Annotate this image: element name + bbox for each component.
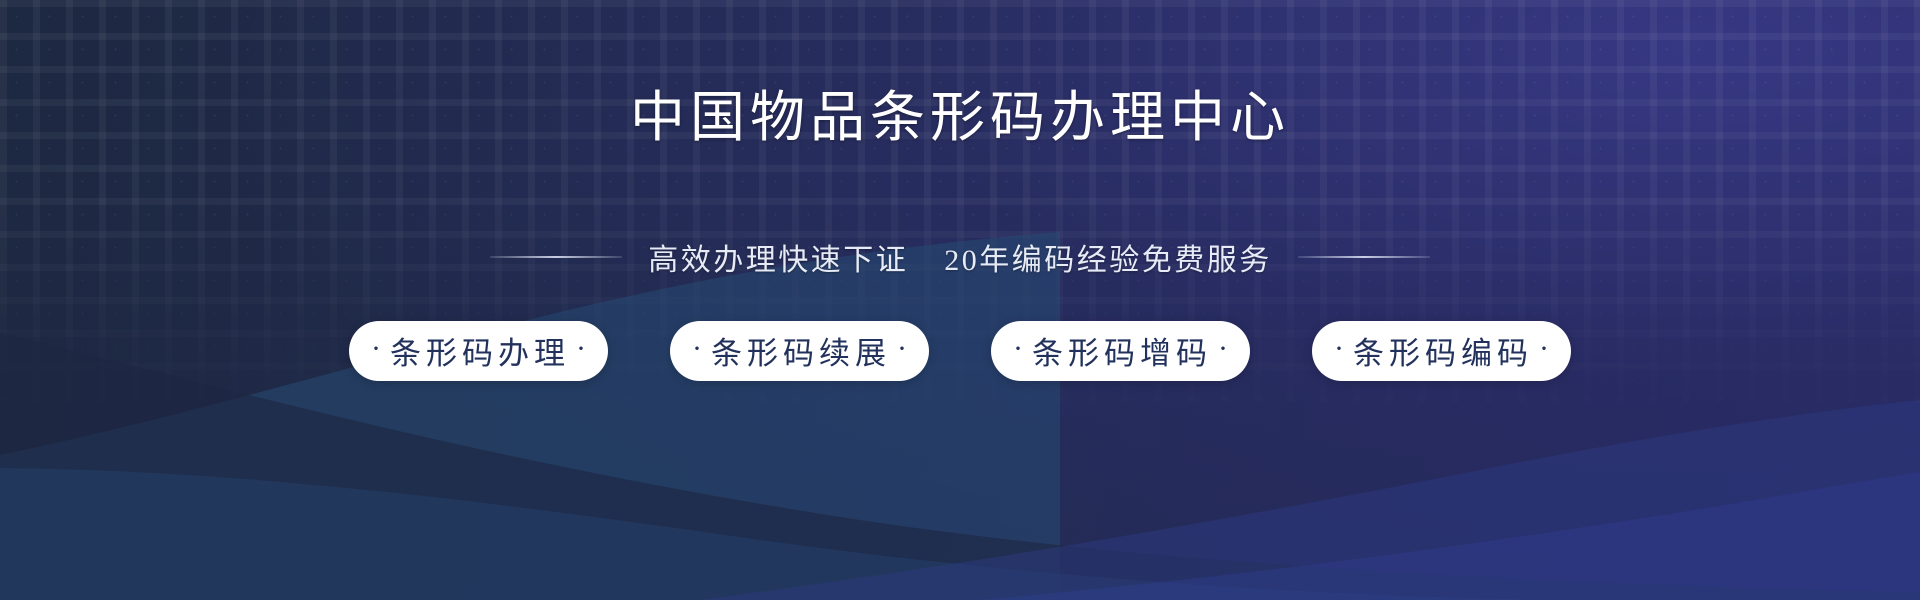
promo-banner: 中国物品条形码办理中心 高效办理快速下证 20年编码经验免费服务 · 条形码办理…	[0, 0, 1920, 600]
page-title: 中国物品条形码办理中心	[630, 88, 1290, 149]
pill-button-barcode-renew[interactable]: · 条形码续展 ·	[670, 321, 929, 381]
bullet-dot-icon: ·	[1218, 334, 1228, 364]
subtitle-left-segment: 高效办理快速下证	[648, 244, 908, 277]
pill-button-barcode-encode[interactable]: · 条形码编码 ·	[1312, 321, 1571, 381]
pill-button-barcode-apply[interactable]: · 条形码办理 ·	[349, 321, 608, 381]
pill-label: 条形码办理	[387, 328, 570, 373]
bullet-dot-icon: ·	[576, 334, 586, 364]
banner-content: 中国物品条形码办理中心 高效办理快速下证 20年编码经验免费服务 · 条形码办理…	[0, 0, 1920, 600]
subtitle-right-segment: 20年编码经验免费服务	[944, 244, 1272, 277]
service-pill-row: · 条形码办理 · · 条形码续展 · · 条形码增码 · · 条形码编码 ·	[349, 321, 1571, 381]
subtitle-row: 高效办理快速下证 20年编码经验免费服务	[490, 235, 1430, 279]
subtitle-text: 高效办理快速下证 20年编码经验免费服务	[648, 235, 1272, 279]
bullet-dot-icon: ·	[1334, 334, 1344, 364]
bullet-dot-icon: ·	[692, 334, 702, 364]
bullet-dot-icon: ·	[371, 334, 381, 364]
pill-label: 条形码续展	[708, 328, 891, 373]
bullet-dot-icon: ·	[897, 334, 907, 364]
right-rule-icon	[1298, 256, 1430, 258]
left-rule-icon	[490, 256, 622, 258]
pill-label: 条形码增码	[1029, 328, 1212, 373]
bullet-dot-icon: ·	[1539, 334, 1549, 364]
bullet-dot-icon: ·	[1013, 334, 1023, 364]
pill-label: 条形码编码	[1350, 328, 1533, 373]
pill-button-barcode-addcode[interactable]: · 条形码增码 ·	[991, 321, 1250, 381]
